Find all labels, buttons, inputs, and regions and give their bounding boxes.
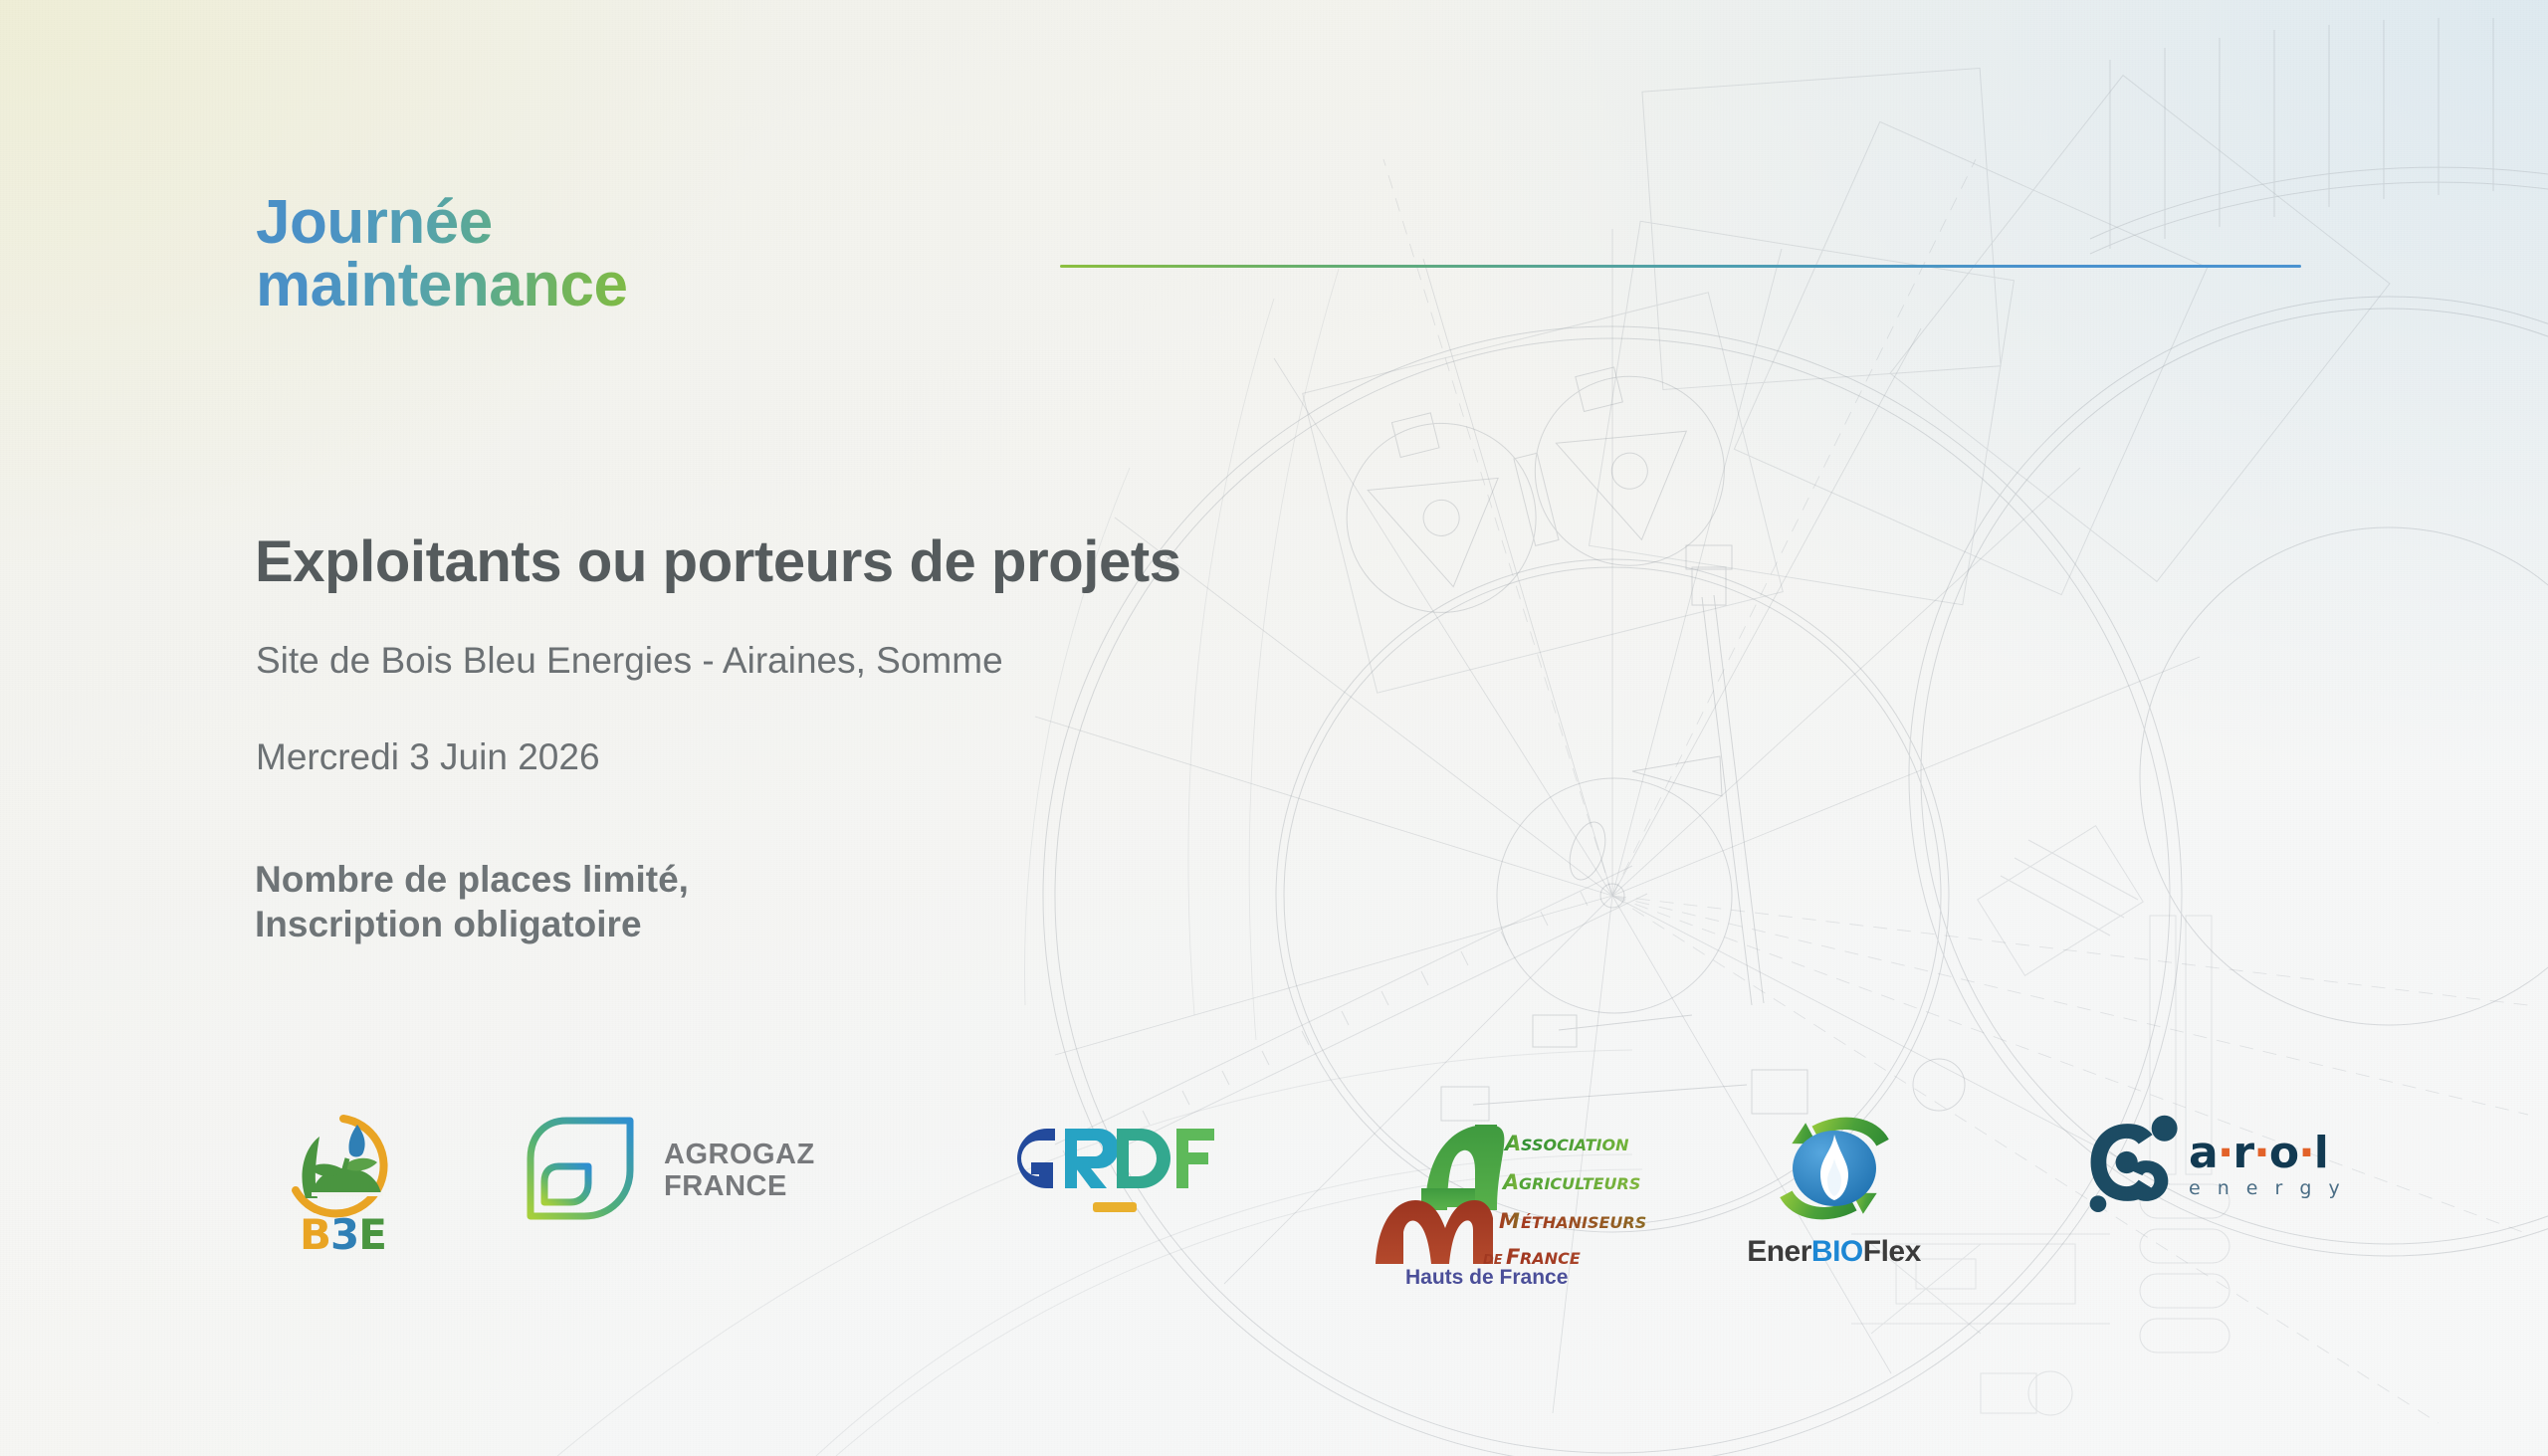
enerbioflex-segment-bio: BIO xyxy=(1811,1235,1863,1268)
partner-logo-arol-energy: a·r·o·l e n e r g y xyxy=(2085,1113,2354,1212)
enerbioflex-mark-icon xyxy=(1735,1113,1934,1230)
partner-logo-agrogaz-france: AGROGAZ FRANCE xyxy=(523,1113,851,1229)
partner-logo-enerbioflex: EnerBIOFlex xyxy=(1727,1113,1941,1267)
svg-text:SSOCIATION: SSOCIATION xyxy=(1521,1136,1629,1154)
registration-notice: Nombre de places limité, Inscription obl… xyxy=(255,857,689,946)
arol-molecule-icon xyxy=(2085,1113,2185,1212)
enerbioflex-segment-flex: Flex xyxy=(1863,1235,1921,1268)
grdf-wordmark-icon xyxy=(995,1113,1234,1220)
arol-wordmark: a·r·o·l xyxy=(2189,1132,2345,1175)
partner-logo-aamf: A SSOCIATION A GRICULTEURS M ÉTHANISEURS… xyxy=(1364,1113,1652,1292)
b3e-mark-icon xyxy=(264,1113,423,1222)
headline-audience: Exploitants ou porteurs de projets xyxy=(255,528,1181,595)
grdf-underline-dash xyxy=(1093,1202,1137,1212)
poster-content: Journée maintenance Exploitants ou porte… xyxy=(0,0,2548,1456)
svg-text:A: A xyxy=(1503,1132,1521,1155)
svg-text:GRICULTEURS: GRICULTEURS xyxy=(1519,1174,1640,1193)
svg-text:ÉTHANISEURS: ÉTHANISEURS xyxy=(1521,1213,1646,1232)
enerbioflex-segment-ener: Ener xyxy=(1747,1235,1811,1268)
page-title: Journée maintenance xyxy=(256,191,628,316)
enerbioflex-wordmark: EnerBIOFlex xyxy=(1727,1237,1941,1267)
poster-canvas: Journée maintenance Exploitants ou porte… xyxy=(0,0,2548,1456)
aamf-region-label: Hauts de France xyxy=(1405,1266,1568,1287)
partner-logo-b3e: B3E xyxy=(251,1113,435,1256)
arol-tagline: e n e r g y xyxy=(2189,1177,2345,1199)
title-divider-rule xyxy=(1060,265,2301,268)
event-location: Site de Bois Bleu Energies - Airaines, S… xyxy=(256,640,1003,682)
agrogaz-wordmark: AGROGAZ FRANCE xyxy=(664,1140,815,1202)
event-date: Mercredi 3 Juin 2026 xyxy=(256,736,600,778)
partner-logo-row: B3E xyxy=(0,1113,2548,1292)
partner-logo-grdf xyxy=(995,1113,1234,1225)
aamf-letter-a-icon xyxy=(1421,1125,1504,1210)
aamf-letter-m-icon xyxy=(1376,1200,1493,1264)
agrogaz-leaf-icon xyxy=(523,1113,642,1229)
arol-wordmark-block: a·r·o·l e n e r g y xyxy=(2189,1126,2345,1199)
svg-text:A: A xyxy=(1501,1170,1519,1194)
svg-text:M: M xyxy=(1499,1209,1520,1233)
